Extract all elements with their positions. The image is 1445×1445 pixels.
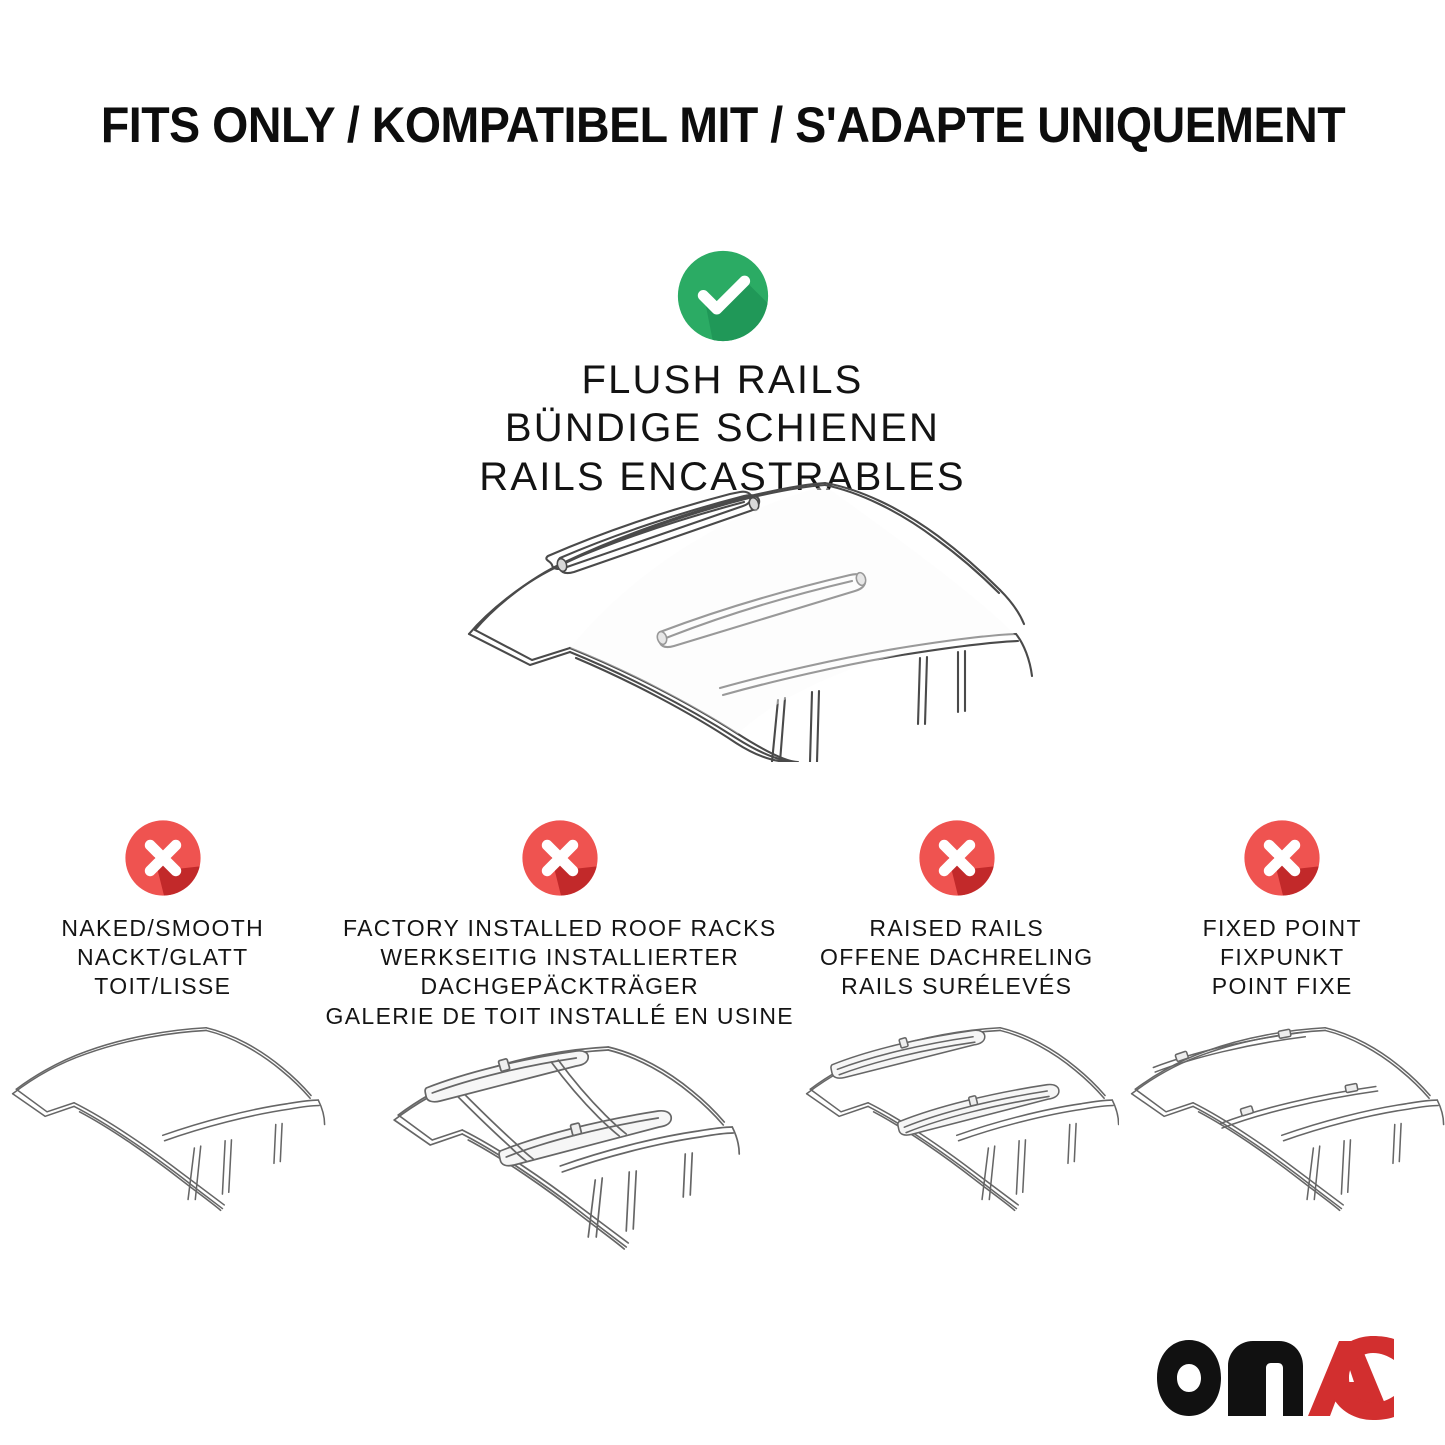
incompatible-labels: NAKED/SMOOTH NACKT/GLATT TOIT/LISSE [61,914,264,1002]
incompatible-labels: RAISED RAILS OFFENE DACHRELING RAILS SUR… [820,914,1093,1002]
incompatible-label-de: NACKT/GLATT [61,943,264,972]
incompatible-label-en: NAKED/SMOOTH [61,914,264,943]
car-roof-factory-roof-racks-illustration [326,1041,794,1256]
incompatible-label-fr: POINT FIXE [1203,972,1362,1001]
incompatible-label-de-1: WERKSEITIG INSTALLIERTER [326,943,794,972]
red-x-circle-icon [1242,818,1322,898]
green-check-circle-icon [675,248,771,344]
red-x-circle-icon [917,818,997,898]
car-roof-fixed-point-illustration [1119,1012,1445,1227]
car-roof-naked-smooth-illustration [0,1012,326,1227]
incompatible-label-de-2: DACHGEPÄCKTRÄGER [326,972,794,1001]
car-roof-with-flush-rails-illustration [420,462,1040,762]
compatible-label-en: FLUSH RAILS [0,356,1445,404]
incompatible-item-raised-rails: RAISED RAILS OFFENE DACHRELING RAILS SUR… [794,818,1120,1227]
car-roof-raised-rails-illustration [794,1012,1120,1227]
incompatible-labels: FACTORY INSTALLED ROOF RACKS WERKSEITIG … [326,914,794,1031]
compatible-label-de: BÜNDIGE SCHIENEN [0,404,1445,452]
incompatible-label-de: OFFENE DACHRELING [820,943,1093,972]
incompatible-item-fixed-point: FIXED POINT FIXPUNKT POINT FIXE [1119,818,1445,1227]
incompatible-label-en: RAISED RAILS [820,914,1093,943]
omac-logo [1153,1336,1403,1420]
red-x-circle-icon [520,818,600,898]
incompatible-label-fr: TOIT/LISSE [61,972,264,1001]
page-title-text: FITS ONLY / KOMPATIBEL MIT / S'ADAPTE UN… [100,96,1344,154]
incompatible-item-factory-roof-racks: FACTORY INSTALLED ROOF RACKS WERKSEITIG … [326,818,794,1256]
page-title: FITS ONLY / KOMPATIBEL MIT / S'ADAPTE UN… [0,96,1445,154]
incompatible-label-fr: RAILS SURÉLEVÉS [820,972,1093,1001]
red-x-circle-icon [123,818,203,898]
incompatible-grid: NAKED/SMOOTH NACKT/GLATT TOIT/LISSE [0,818,1445,1256]
incompatible-label-de: FIXPUNKT [1203,943,1362,972]
incompatible-item-naked-smooth: NAKED/SMOOTH NACKT/GLATT TOIT/LISSE [0,818,326,1227]
incompatible-label-en: FACTORY INSTALLED ROOF RACKS [326,914,794,943]
incompatible-label-fr: GALERIE DE TOIT INSTALLÉ EN USINE [326,1002,794,1031]
incompatible-labels: FIXED POINT FIXPUNKT POINT FIXE [1203,914,1362,1002]
incompatible-label-en: FIXED POINT [1203,914,1362,943]
